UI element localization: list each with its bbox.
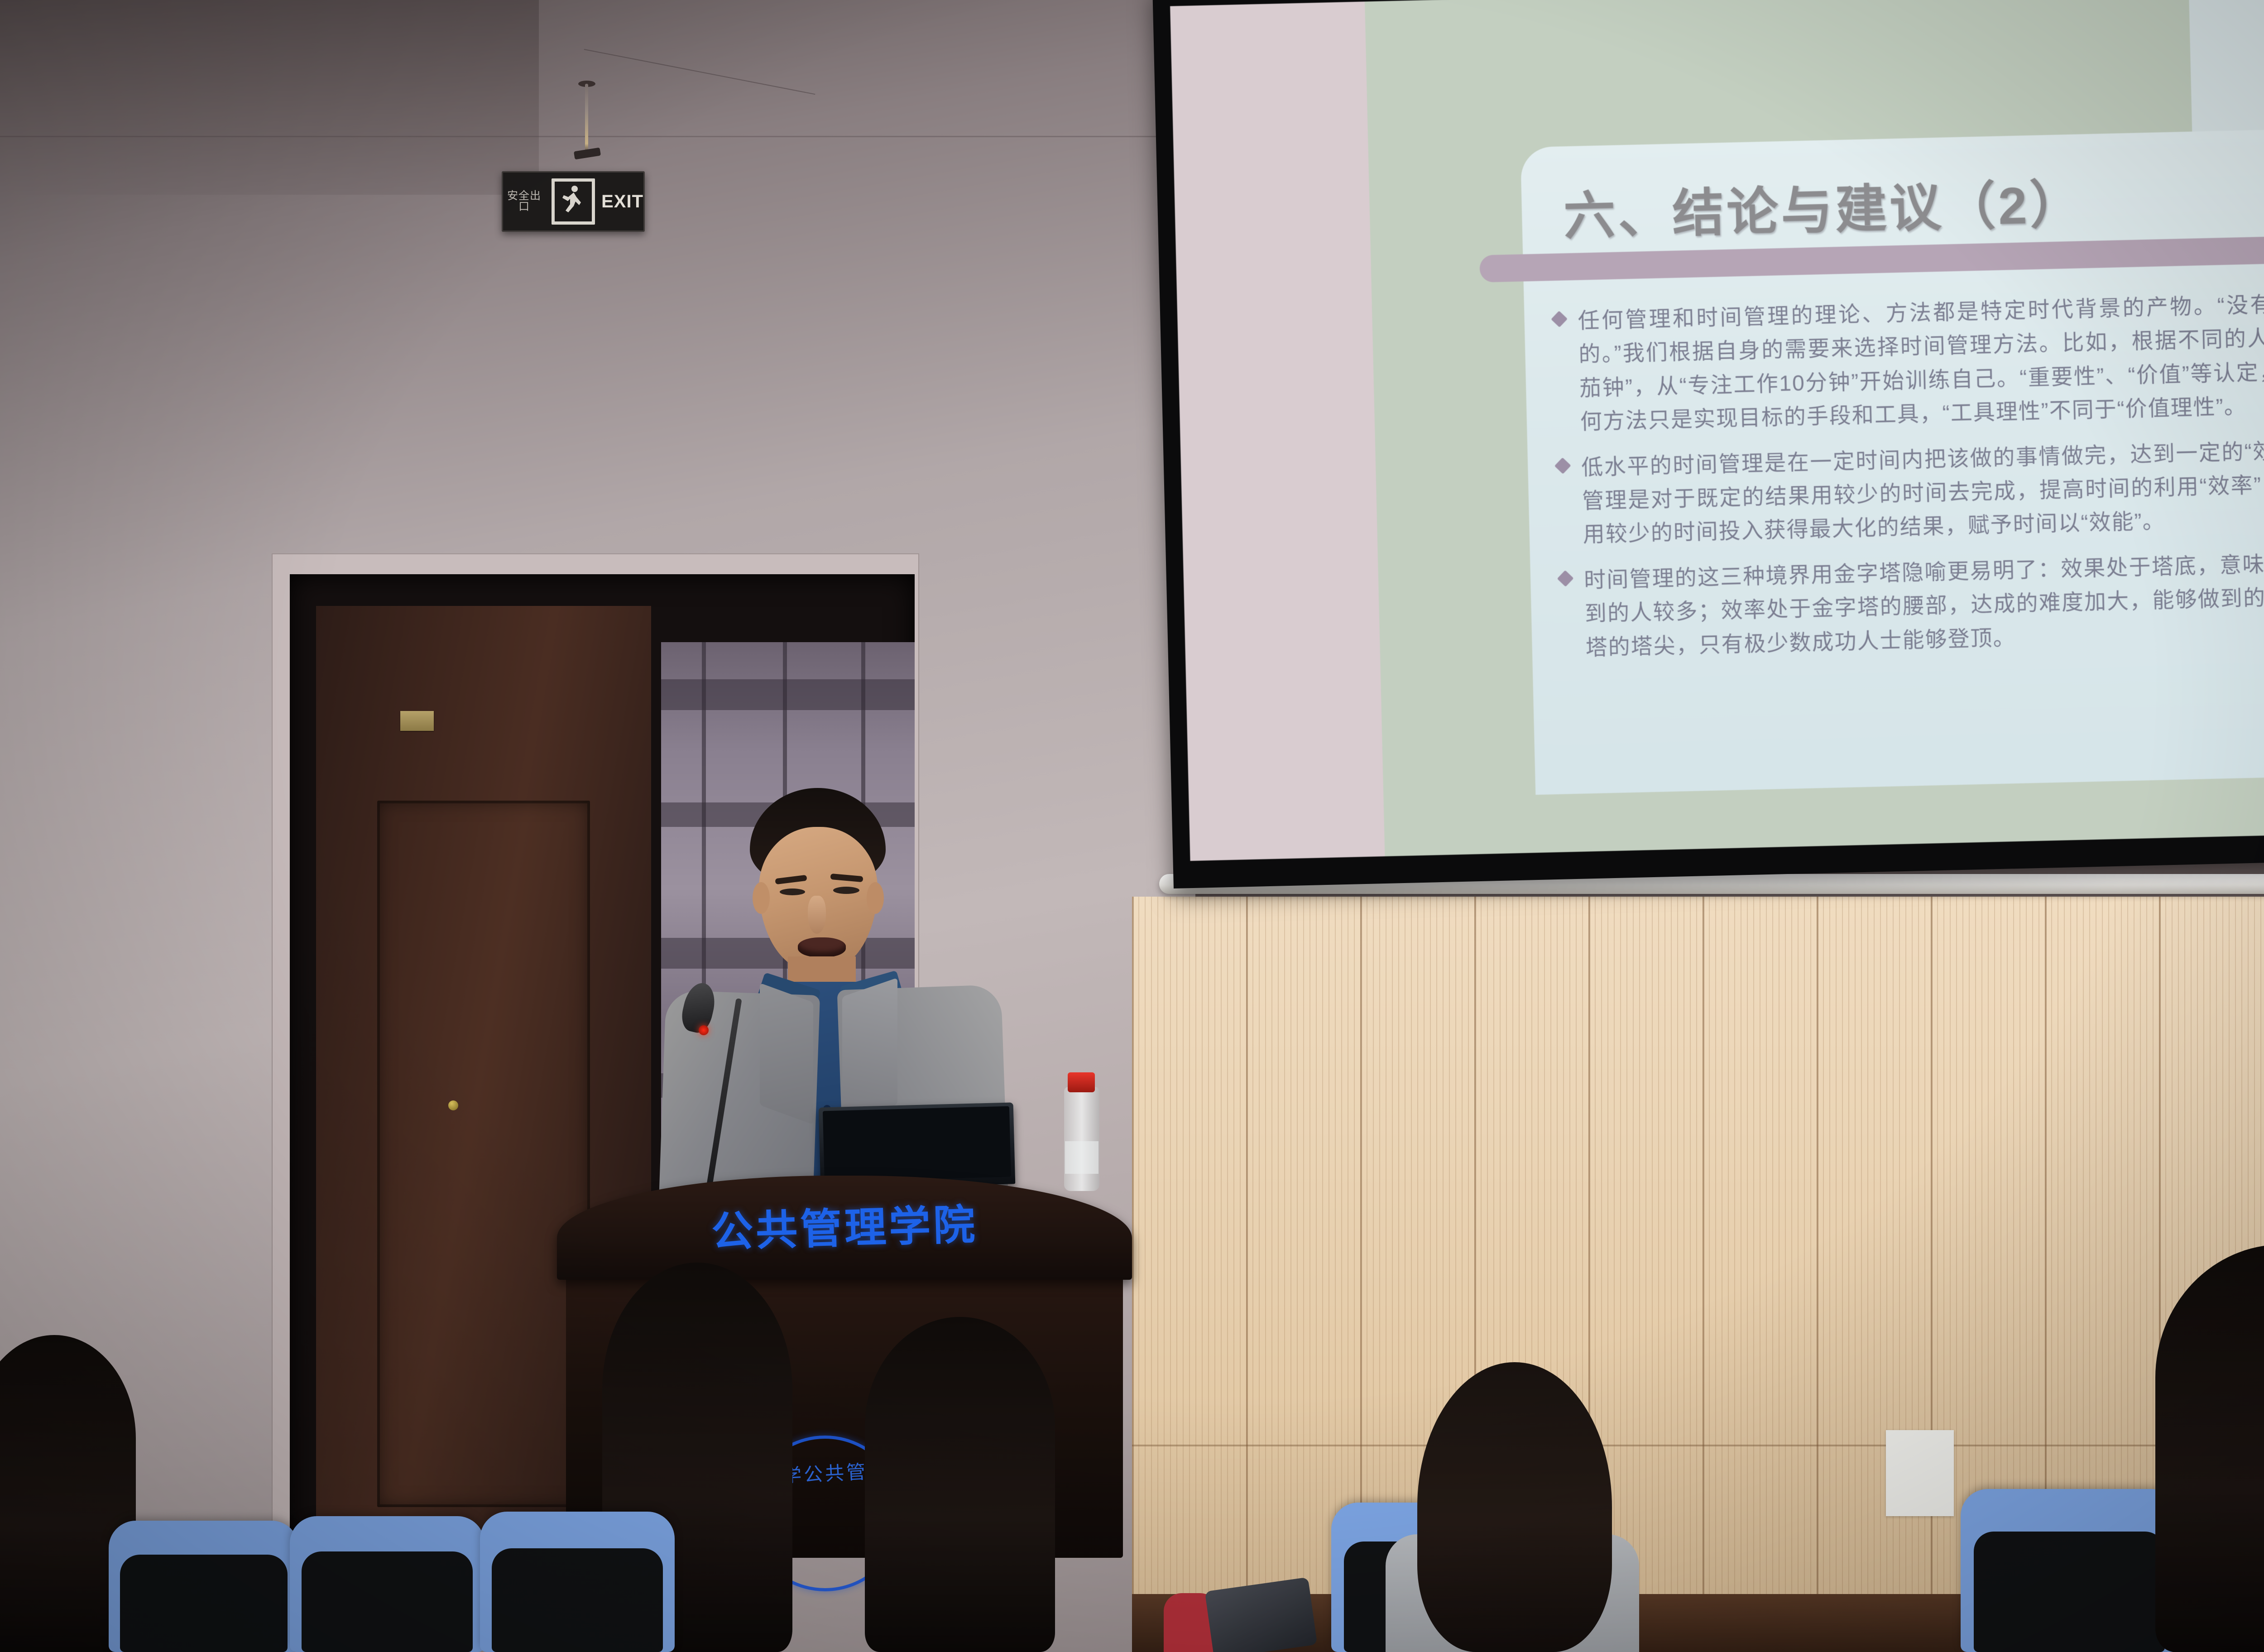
presenter-lapel-right bbox=[842, 978, 897, 1124]
presenter-mouth bbox=[798, 937, 846, 957]
slide-title: 六、结论与建议（2） bbox=[1563, 162, 2085, 249]
running-person-exit-icon bbox=[552, 178, 595, 225]
ceiling-wall-seam bbox=[0, 136, 1195, 137]
ceiling-shadow bbox=[0, 0, 539, 195]
water-bottle bbox=[1064, 1087, 1099, 1191]
wood-panel-seam bbox=[1132, 1445, 2264, 1446]
diamond-bullet-icon bbox=[1554, 457, 1571, 474]
door-knob[interactable] bbox=[448, 1100, 458, 1110]
exit-sign-chinese-label: 安全出口 bbox=[503, 191, 545, 212]
exit-sign-english-label: EXIT bbox=[601, 192, 643, 212]
slide-bullet-text: 时间管理的这三种境界用金字塔隐喻更易明了：效果处于塔底，意味着较容易实现或能够做… bbox=[1583, 543, 2264, 665]
slide-body: 任何管理和时间管理的理论、方法都是特定时代背景的产物。“没有最好的，只有最合适的… bbox=[1553, 283, 2264, 677]
audience-chair[interactable] bbox=[290, 1516, 484, 1652]
presenter-lapel-left bbox=[760, 983, 813, 1125]
projection-screen: 六、结论与建议（2） 任何管理和时间管理的理论、方法都是特定时代背景的产物。“没… bbox=[1152, 0, 2264, 888]
slide-bullet-3: 时间管理的这三种境界用金字塔隐喻更易明了：效果处于塔底，意味着较容易实现或能够做… bbox=[1559, 543, 2264, 666]
running-person-glyph bbox=[561, 185, 581, 213]
slide-bullet-1: 任何管理和时间管理的理论、方法都是特定时代背景的产物。“没有最好的，只有最合适的… bbox=[1553, 283, 2264, 440]
audience-chair[interactable] bbox=[1961, 1489, 2178, 1652]
slide-bullet-text: 低水平的时间管理是在一定时间内把该做的事情做完，达到一定的“效果”；中等水平的时… bbox=[1581, 430, 2264, 552]
diamond-bullet-icon bbox=[1551, 311, 1568, 327]
water-bottle-cap bbox=[1068, 1072, 1095, 1092]
emergency-exit-sign: 安全出口 EXIT bbox=[502, 171, 645, 232]
door-inset-panel bbox=[377, 801, 590, 1507]
water-bottle-label bbox=[1065, 1141, 1098, 1174]
presenter-eye-right bbox=[833, 887, 859, 894]
slide-bullet-2: 低水平的时间管理是在一定时间内把该做的事情做完，达到一定的“效果”；中等水平的时… bbox=[1557, 430, 2264, 553]
slide-bullet-text: 任何管理和时间管理的理论、方法都是特定时代背景的产物。“没有最好的，只有最合适的… bbox=[1578, 283, 2264, 439]
presenter-ear-right bbox=[867, 882, 884, 914]
slide-content-panel: 六、结论与建议（2） 任何管理和时间管理的理论、方法都是特定时代背景的产物。“没… bbox=[1521, 124, 2264, 795]
lecture-hall-photo: 安全出口 EXIT bbox=[0, 0, 2264, 1652]
paper-sheet bbox=[1886, 1430, 1954, 1516]
laptop-screen bbox=[823, 1106, 1011, 1182]
lectern-school-name: 公共管理学院 bbox=[556, 1186, 1132, 1263]
presenter-nose bbox=[808, 896, 826, 934]
audience-chair[interactable] bbox=[480, 1512, 675, 1652]
door-plaque bbox=[400, 711, 434, 731]
audience-head bbox=[1417, 1362, 1612, 1652]
presenter-ear-left bbox=[753, 882, 770, 914]
hanging-cable bbox=[585, 84, 588, 152]
presentation-slide: 六、结论与建议（2） 任何管理和时间管理的理论、方法都是特定时代背景的产物。“没… bbox=[1170, 0, 2264, 861]
microphone-led-icon bbox=[699, 1025, 709, 1035]
audience-chair[interactable] bbox=[109, 1521, 299, 1652]
presenter-eye-left bbox=[780, 888, 805, 895]
diamond-bullet-icon bbox=[1557, 570, 1574, 587]
audience-head bbox=[865, 1317, 1055, 1652]
